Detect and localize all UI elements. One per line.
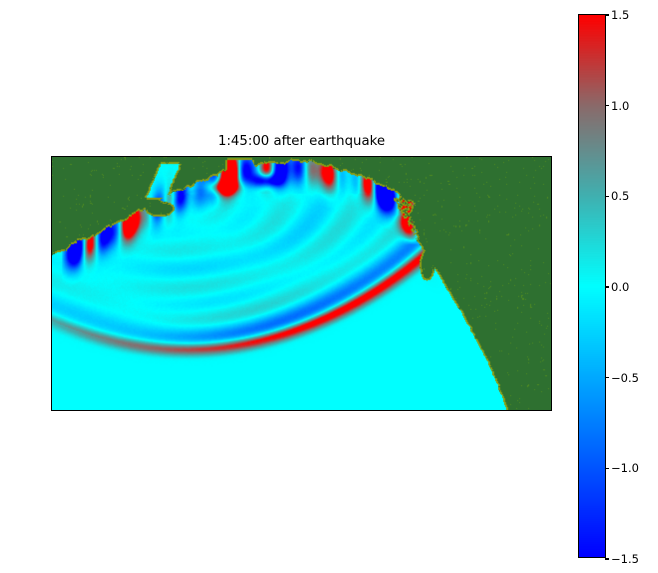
page-title: 1:45:00 after earthquake (51, 134, 552, 150)
colorbar-tick-mark (605, 286, 609, 287)
x-tick-mark (524, 410, 525, 411)
y-tick-mark (51, 274, 52, 275)
colorbar-tick-label: 1.0 (611, 99, 629, 113)
tsunami-heatmap (52, 157, 551, 410)
colorbar-tick-label: −0.5 (611, 371, 639, 385)
y-tick-mark (51, 175, 52, 176)
y-tick-mark (51, 373, 52, 374)
colorbar-gradient (579, 15, 605, 557)
y-tick-mark (51, 340, 52, 341)
colorbar-tick-mark (605, 196, 609, 197)
y-tick-mark (51, 307, 52, 308)
colorbar-tick-mark (605, 558, 609, 559)
x-tick-mark (75, 410, 76, 411)
colorbar-tick-label: 0.5 (611, 189, 629, 203)
y-tick-mark (51, 405, 52, 406)
x-tick-mark (460, 410, 461, 411)
map-axes[interactable]: 42.545.047.550.052.555.057.560.0 −160−15… (51, 156, 552, 411)
x-tick-mark (203, 410, 204, 411)
colorbar-tick-mark (605, 468, 609, 469)
colorbar-tick-label: −1.5 (611, 552, 639, 566)
y-tick-mark (51, 208, 52, 209)
figure-canvas: 1:45:00 after earthquake 42.545.047.550.… (0, 0, 658, 573)
colorbar-tick-mark (605, 377, 609, 378)
x-tick-mark (395, 410, 396, 411)
y-tick-mark (51, 241, 52, 242)
colorbar-tick-mark (605, 14, 609, 15)
colorbar[interactable]: −1.5−1.0−0.50.00.51.01.5 (578, 14, 606, 558)
colorbar-tick-label: 0.0 (611, 280, 629, 294)
x-tick-mark (331, 410, 332, 411)
x-tick-mark (267, 410, 268, 411)
x-tick-mark (139, 410, 140, 411)
colorbar-tick-mark (605, 105, 609, 106)
colorbar-tick-label: −1.0 (611, 461, 639, 475)
colorbar-tick-label: 1.5 (611, 8, 629, 22)
